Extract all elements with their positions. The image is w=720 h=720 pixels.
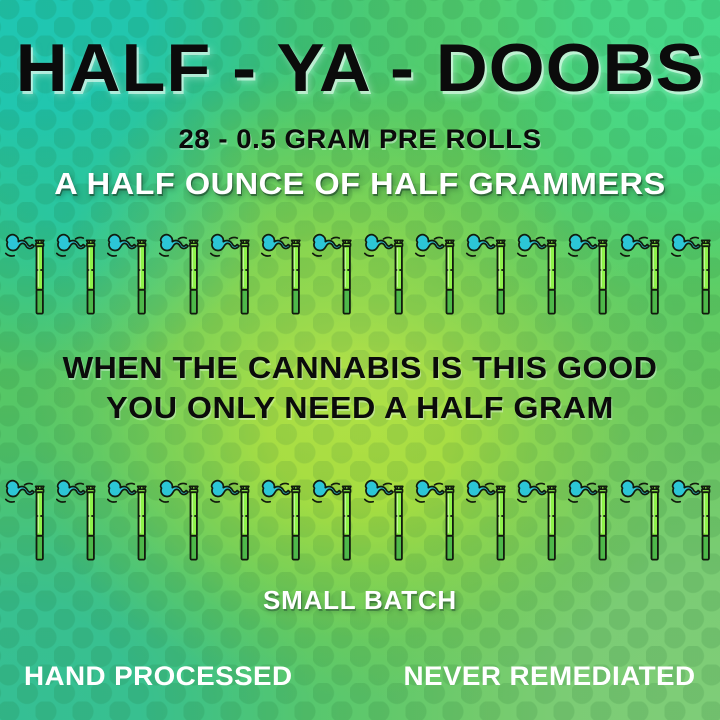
pre-roll-joint-with-smoke-icon xyxy=(619,228,665,316)
pre-roll-joint-with-smoke-icon xyxy=(465,228,511,316)
pre-roll-joint-with-smoke-icon xyxy=(4,474,50,562)
poster-content: HALF - YA - DOOBS 28 - 0.5 GRAM PRE ROLL… xyxy=(0,0,720,720)
pre-roll-joint-with-smoke-icon xyxy=(209,474,255,562)
pre-roll-joint-with-smoke-icon xyxy=(55,474,101,562)
pre-roll-joint-with-smoke-icon xyxy=(414,474,460,562)
middle-message-line-1: WHEN THE CANNABIS IS THIS GOOD xyxy=(0,348,720,388)
poster-subtitle-description: A HALF OUNCE OF HALF GRAMMERS xyxy=(0,166,720,202)
joint-row-bottom xyxy=(0,474,720,564)
pre-roll-joint-with-smoke-icon xyxy=(158,474,204,562)
poster-footer: HAND PROCESSED NEVER REMEDIATED xyxy=(0,658,720,694)
pre-roll-joint-with-smoke-icon xyxy=(567,474,613,562)
pre-roll-joint-with-smoke-icon xyxy=(670,474,716,562)
pre-roll-joint-with-smoke-icon xyxy=(414,228,460,316)
pre-roll-joint-with-smoke-icon xyxy=(158,228,204,316)
poster-headline: HALF - YA - DOOBS xyxy=(0,30,720,106)
pre-roll-joint-with-smoke-icon xyxy=(567,228,613,316)
footer-never-remediated: NEVER REMEDIATED xyxy=(404,660,696,692)
joint-row-top xyxy=(0,228,720,318)
poster-subtitle-quantity: 28 - 0.5 GRAM PRE ROLLS xyxy=(0,124,720,155)
pre-roll-joint-with-smoke-icon xyxy=(516,474,562,562)
pre-roll-joint-with-smoke-icon xyxy=(260,228,306,316)
pre-roll-joint-with-smoke-icon xyxy=(106,474,152,562)
pre-roll-joint-with-smoke-icon xyxy=(260,474,306,562)
pre-roll-joint-with-smoke-icon xyxy=(516,228,562,316)
pre-roll-joint-with-smoke-icon xyxy=(670,228,716,316)
poster-middle-message: WHEN THE CANNABIS IS THIS GOOD YOU ONLY … xyxy=(0,348,720,428)
promotional-poster: HALF - YA - DOOBS 28 - 0.5 GRAM PRE ROLL… xyxy=(0,0,720,720)
middle-message-line-2: YOU ONLY NEED A HALF GRAM xyxy=(0,388,720,428)
small-batch-label: SMALL BATCH xyxy=(0,585,720,615)
pre-roll-joint-with-smoke-icon xyxy=(106,228,152,316)
pre-roll-joint-with-smoke-icon xyxy=(55,228,101,316)
pre-roll-joint-with-smoke-icon xyxy=(4,228,50,316)
pre-roll-joint-with-smoke-icon xyxy=(363,228,409,316)
pre-roll-joint-with-smoke-icon xyxy=(311,474,357,562)
pre-roll-joint-with-smoke-icon xyxy=(619,474,665,562)
pre-roll-joint-with-smoke-icon xyxy=(465,474,511,562)
pre-roll-joint-with-smoke-icon xyxy=(363,474,409,562)
pre-roll-joint-with-smoke-icon xyxy=(209,228,255,316)
pre-roll-joint-with-smoke-icon xyxy=(311,228,357,316)
footer-hand-processed: HAND PROCESSED xyxy=(24,660,293,692)
